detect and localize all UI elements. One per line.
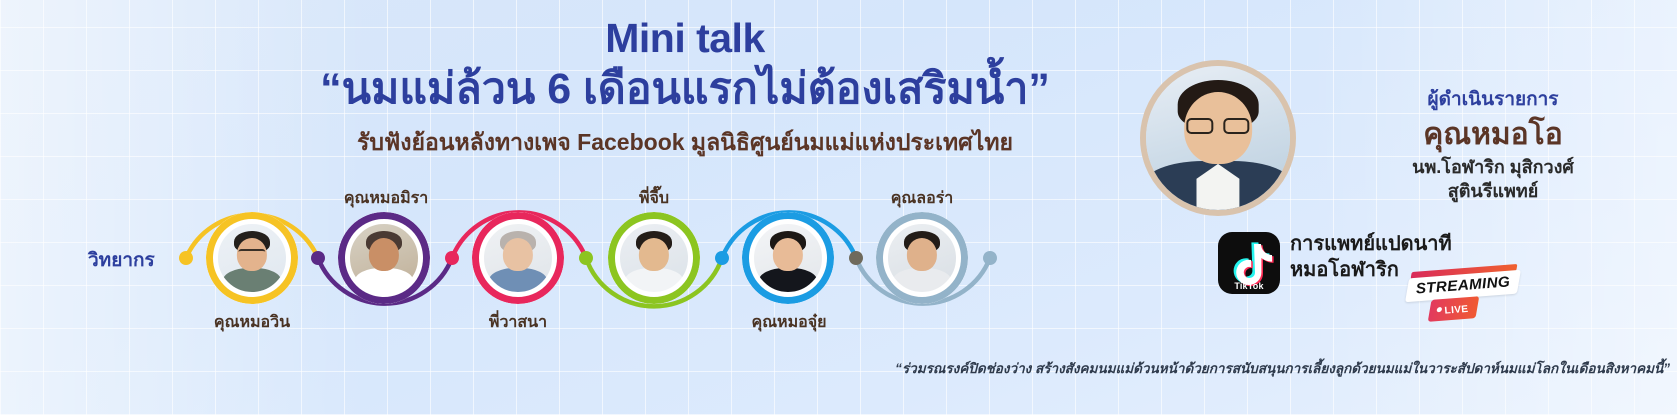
streaming-badge: STREAMING LIVE (1408, 268, 1518, 314)
tiktok-wordmark: TikTok (1218, 281, 1280, 291)
speaker-name-6: คุณลอร่า (891, 186, 954, 211)
speaker-avatar-5[interactable] (742, 212, 834, 304)
host-nickname: คุณหมอโอ (1318, 115, 1668, 156)
speaker-avatar-3[interactable] (472, 212, 564, 304)
host-specialty: สูตินรีแพทย์ (1318, 179, 1668, 203)
headline-subtitle: รับฟังย้อนหลังทางเพจ Facebook มูลนิธิศูน… (180, 129, 1190, 157)
talk-topic: “นมแม่ล้วน 6 เดือนแรกไม่ต้องเสริมน้ำ” (180, 65, 1190, 114)
channel-name-line1: การแพทย์แปดนาที (1290, 232, 1452, 258)
eyeglasses-icon (1186, 118, 1249, 134)
speaker-name-2: คุณหมอมิรา (344, 186, 428, 211)
speaker-name-3: พี่วาสนา (489, 310, 547, 335)
speaker-avatar-4[interactable] (608, 212, 700, 304)
speaker-avatar-6[interactable] (876, 212, 968, 304)
speakers-timeline: คุณหมอวิน คุณหมอมิรา พี่วาสนา (0, 170, 1030, 345)
host-info-block: ผู้ดำเนินรายการ คุณหมอโอ นพ.โอฬาริก มุสิ… (1318, 88, 1668, 204)
speaker-name-5: คุณหมอจุ๋ย (752, 310, 827, 335)
avatar-inner-ring-5 (751, 221, 825, 295)
speaker-name-1: คุณหมอวิน (214, 310, 290, 335)
page-title: Mini talk (180, 16, 1190, 61)
footer-note: “ร่วมรณรงค์ปิดช่องว่าง สร้างสังคมนมแม่ด้… (840, 357, 1670, 379)
live-badge: LIVE (1428, 296, 1480, 322)
host-avatar (1140, 60, 1296, 216)
speaker-name-4: พี่จี๊บ (639, 186, 669, 211)
avatar-inner-ring-4 (617, 221, 691, 295)
campaign-banner: Mini talk “นมแม่ล้วน 6 เดือนแรกไม่ต้องเส… (0, 0, 1677, 415)
speaker-avatar-2[interactable] (338, 212, 430, 304)
live-dot-icon (1436, 307, 1442, 312)
avatar-inner-ring-3 (481, 221, 555, 295)
speaker-avatar-1[interactable] (206, 212, 298, 304)
tiktok-icon[interactable]: TikTok (1218, 232, 1280, 294)
headline-block: Mini talk “นมแม่ล้วน 6 เดือนแรกไม่ต้องเส… (180, 16, 1190, 156)
avatar-inner-ring-1 (215, 221, 289, 295)
host-full-name: นพ.โอฬาริก มุสิกวงศ์ (1318, 155, 1668, 179)
avatar-inner-ring-2 (347, 221, 421, 295)
host-role-label: ผู้ดำเนินรายการ (1318, 88, 1668, 113)
live-label: LIVE (1444, 304, 1469, 317)
avatar-inner-ring-6 (885, 221, 959, 295)
